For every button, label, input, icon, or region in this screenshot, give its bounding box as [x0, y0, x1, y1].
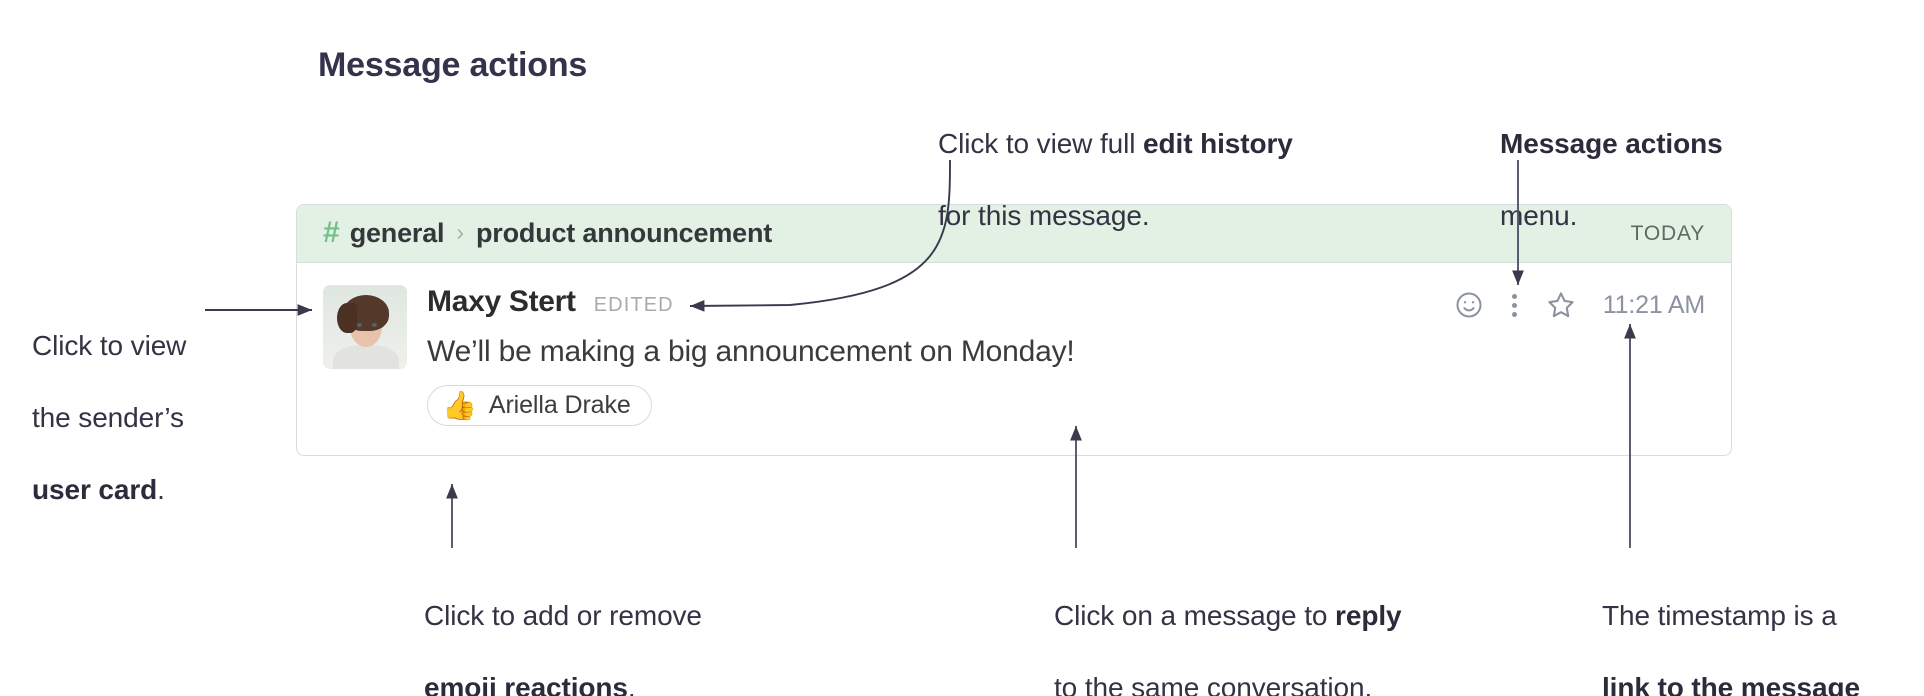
- annotation-edit-history-line2: for this message.: [938, 200, 1150, 231]
- annotation-edit-history-head: Click to view full: [938, 128, 1143, 159]
- annotation-edit-history: Click to view full edit history for this…: [938, 90, 1358, 234]
- stream-name[interactable]: general: [350, 218, 445, 249]
- avatar-eye-left: [357, 323, 362, 327]
- page-title: Message actions: [318, 46, 587, 85]
- annotation-reply: Click on a message to reply to the same …: [1054, 562, 1454, 696]
- message-timestamp[interactable]: 11:21 AM: [1603, 291, 1705, 320]
- annotation-emoji-reactions: Click to add or remove emoji reactions.: [424, 562, 784, 696]
- annotation-user-card: Click to view the sender’s user card.: [32, 292, 272, 508]
- annotation-reply-bold: reply: [1335, 600, 1401, 631]
- reaction-row: 👍 Ariella Drake: [427, 385, 1705, 426]
- emoji-reaction-icon[interactable]: [1454, 290, 1484, 320]
- breadcrumb-separator-icon: ›: [456, 219, 464, 246]
- dot-bottom: [1512, 312, 1517, 317]
- message-row[interactable]: Maxy Stert EDITED We’ll be making a big …: [297, 263, 1731, 426]
- avatar[interactable]: [323, 285, 407, 369]
- annotation-reply-head: Click on a message to: [1054, 600, 1335, 631]
- avatar-hair-side: [337, 303, 357, 333]
- message-controls: 11:21 AM: [1454, 289, 1705, 321]
- annotation-timestamp-bold: link to the message: [1602, 672, 1860, 696]
- annotation-user-card-line1: Click to view: [32, 330, 186, 361]
- annotation-user-card-line3-tail: .: [157, 474, 165, 505]
- message-body[interactable]: We’ll be making a big announcement on Mo…: [427, 333, 1705, 371]
- edited-label[interactable]: EDITED: [594, 294, 674, 317]
- message-card: # general › product announcement TODAY M…: [296, 204, 1732, 456]
- annotation-user-card-line3-bold: user card: [32, 474, 157, 505]
- reaction-pill[interactable]: 👍 Ariella Drake: [427, 385, 652, 426]
- topic-name[interactable]: product announcement: [476, 218, 772, 249]
- annotation-emoji-reactions-bold: emoji reactions: [424, 672, 628, 696]
- annotation-reply-line2: to the same conversation.: [1054, 672, 1372, 696]
- annotation-message-actions-line2: menu.: [1500, 200, 1577, 231]
- dot-top: [1512, 294, 1517, 299]
- thumbs-up-icon: 👍: [442, 392, 477, 420]
- annotation-message-actions: Message actions menu.: [1500, 90, 1800, 234]
- annotation-user-card-line2: the sender’s: [32, 402, 184, 433]
- sender-name[interactable]: Maxy Stert: [427, 285, 576, 319]
- avatar-body: [333, 345, 399, 369]
- annotation-message-actions-bold: Message actions: [1500, 128, 1723, 159]
- annotation-timestamp-line1: The timestamp is a: [1602, 600, 1837, 631]
- avatar-eye-right: [372, 323, 377, 327]
- annotation-emoji-reactions-tail: .: [628, 672, 636, 696]
- hash-icon: #: [323, 218, 340, 248]
- annotation-emoji-reactions-line1: Click to add or remove: [424, 600, 702, 631]
- star-icon[interactable]: [1545, 289, 1577, 321]
- dot-middle: [1512, 303, 1517, 308]
- annotation-timestamp-link: The timestamp is a link to the message (…: [1602, 562, 1912, 696]
- vertical-dots-icon[interactable]: [1506, 294, 1523, 317]
- annotation-edit-history-bold: edit history: [1143, 128, 1293, 159]
- reaction-label: Ariella Drake: [489, 391, 631, 420]
